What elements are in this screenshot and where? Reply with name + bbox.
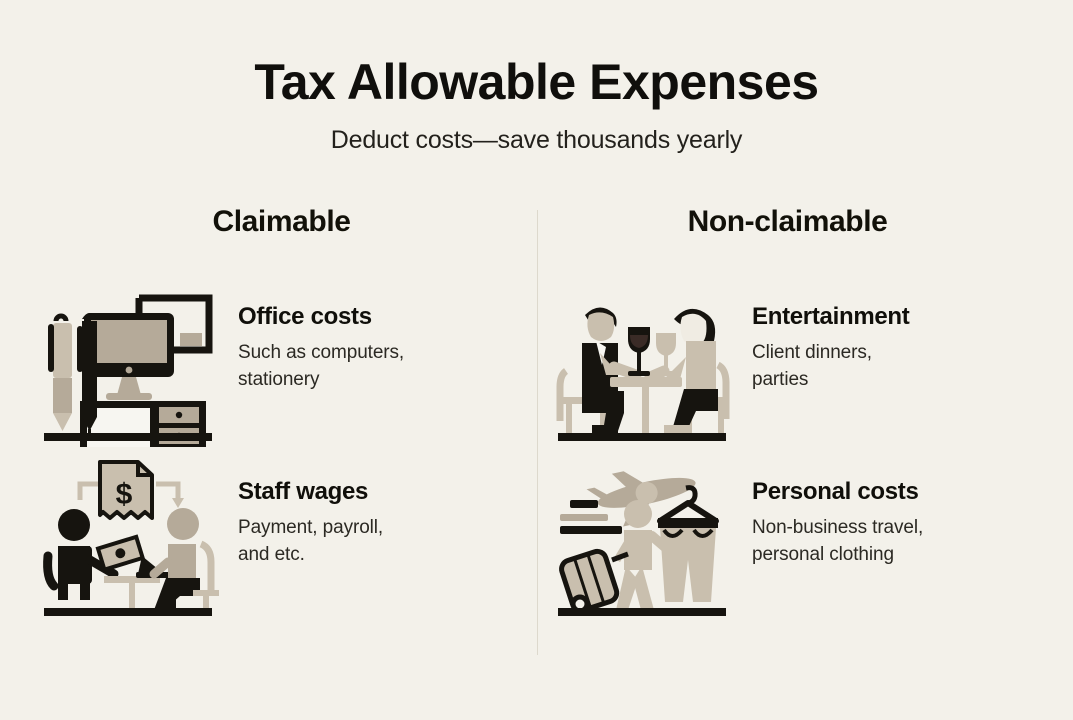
non-claimable-items: Entertainment Client dinners, parties (552, 285, 1052, 635)
list-item: Office costs Such as computers, statione… (38, 285, 538, 460)
list-item-desc-line1: Payment, payroll, (238, 515, 383, 542)
list-item: $ (38, 460, 538, 635)
list-item-title: Entertainment (752, 303, 909, 331)
list-item-desc-line1: Non-business travel, (752, 515, 923, 542)
list-item-desc-line2: stationery (238, 367, 404, 394)
list-item-description: Client dinners, parties (752, 340, 909, 394)
list-item-text: Personal costs Non-business travel, pers… (734, 460, 923, 569)
svg-text:$: $ (116, 478, 133, 511)
list-item: Personal costs Non-business travel, pers… (552, 460, 1052, 635)
page-subtitle: Deduct costs—save thousands yearly (0, 126, 1073, 155)
infographic-poster: Tax Allowable Expenses Deduct costs—save… (0, 0, 1073, 720)
column-heading-claimable: Claimable (58, 205, 505, 239)
list-item-title: Personal costs (752, 478, 923, 506)
list-item-title: Staff wages (238, 478, 383, 506)
page-title: Tax Allowable Expenses (0, 56, 1073, 109)
column-heading-non-claimable: Non-claimable (564, 205, 1011, 239)
list-item-desc-line1: Such as computers, (238, 340, 404, 367)
list-item-text: Staff wages Payment, payroll, and etc. (220, 460, 383, 569)
list-item-title: Office costs (238, 303, 404, 331)
staff-wages-payment-icon: $ (38, 460, 220, 622)
column-claimable: Claimable (38, 205, 538, 239)
list-item: Entertainment Client dinners, parties (552, 285, 1052, 460)
list-item-description: Such as computers, stationery (238, 340, 404, 394)
list-item-text: Office costs Such as computers, statione… (220, 285, 404, 394)
list-item-desc-line2: parties (752, 367, 909, 394)
travel-suitcase-clothing-icon (552, 460, 734, 622)
columns-area: Claimable (0, 205, 1073, 720)
list-item-desc-line1: Client dinners, (752, 340, 909, 367)
column-non-claimable: Non-claimable (552, 205, 1052, 239)
dining-couple-entertainment-icon (552, 285, 734, 447)
list-item-desc-line2: personal clothing (752, 542, 923, 569)
list-item-desc-line2: and etc. (238, 542, 383, 569)
list-item-text: Entertainment Client dinners, parties (734, 285, 909, 394)
list-item-description: Payment, payroll, and etc. (238, 515, 383, 569)
list-item-description: Non-business travel, personal clothing (752, 515, 923, 569)
poster-header: Tax Allowable Expenses Deduct costs—save… (0, 56, 1073, 155)
claimable-items: Office costs Such as computers, statione… (38, 285, 538, 635)
office-desk-computer-pens-icon (38, 285, 220, 447)
